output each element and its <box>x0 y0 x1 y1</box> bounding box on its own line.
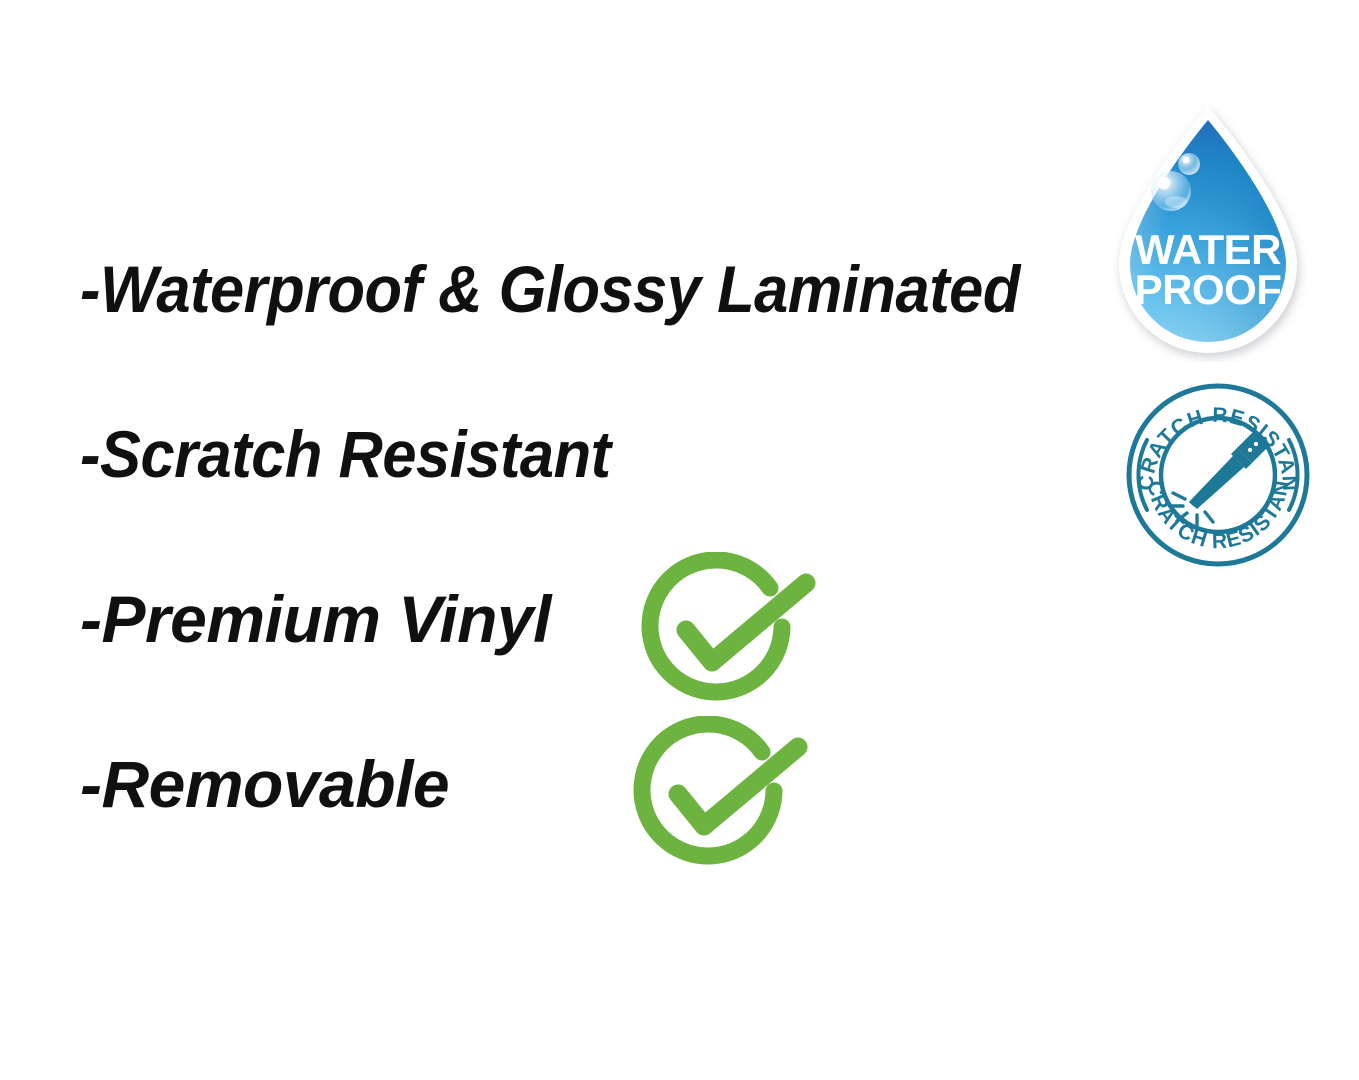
feature-list-item: -Removable <box>80 751 449 817</box>
feature-list-item: -Waterproof & Glossy Laminated <box>80 256 1091 322</box>
scratch-resistant-badge: SCRATCH RESISTANT SCRATCH RESISTANT <box>1125 382 1311 568</box>
feature-label: -Waterproof & Glossy Laminated <box>80 256 1020 322</box>
knife-rivet <box>1254 442 1258 446</box>
knife-stamp-icon: SCRATCH RESISTANT SCRATCH RESISTANT <box>1125 382 1311 568</box>
feature-label: -Premium Vinyl <box>80 586 551 652</box>
checkmark-premium-vinyl <box>636 552 822 712</box>
waterproof-badge: WATER PROOF <box>1108 104 1308 362</box>
check-circle-icon <box>628 716 814 876</box>
knife-blade-edge <box>1189 456 1240 506</box>
knife-icon <box>1170 432 1268 527</box>
bubble-small-icon <box>1178 153 1200 175</box>
knife-rivet <box>1248 448 1252 452</box>
feature-list: -Waterproof & Glossy Laminated -Scratch … <box>0 0 1100 1080</box>
feature-label: -Removable <box>80 751 449 817</box>
bubble-large-highlight <box>1158 177 1171 190</box>
product-feature-graphic: -Waterproof & Glossy Laminated -Scratch … <box>0 0 1359 1080</box>
feature-label: -Scratch Resistant <box>80 421 611 487</box>
feature-list-item: -Scratch Resistant <box>80 421 651 487</box>
feature-list-item: -Premium Vinyl <box>80 586 551 652</box>
check-circle-icon <box>636 552 822 712</box>
bubble-small-highlight <box>1182 156 1189 163</box>
checkmark-removable <box>628 716 814 876</box>
waterproof-line2: PROOF <box>1135 266 1282 313</box>
bubble-large-lowlight <box>1165 196 1187 208</box>
water-drop-icon: WATER PROOF <box>1108 104 1308 362</box>
